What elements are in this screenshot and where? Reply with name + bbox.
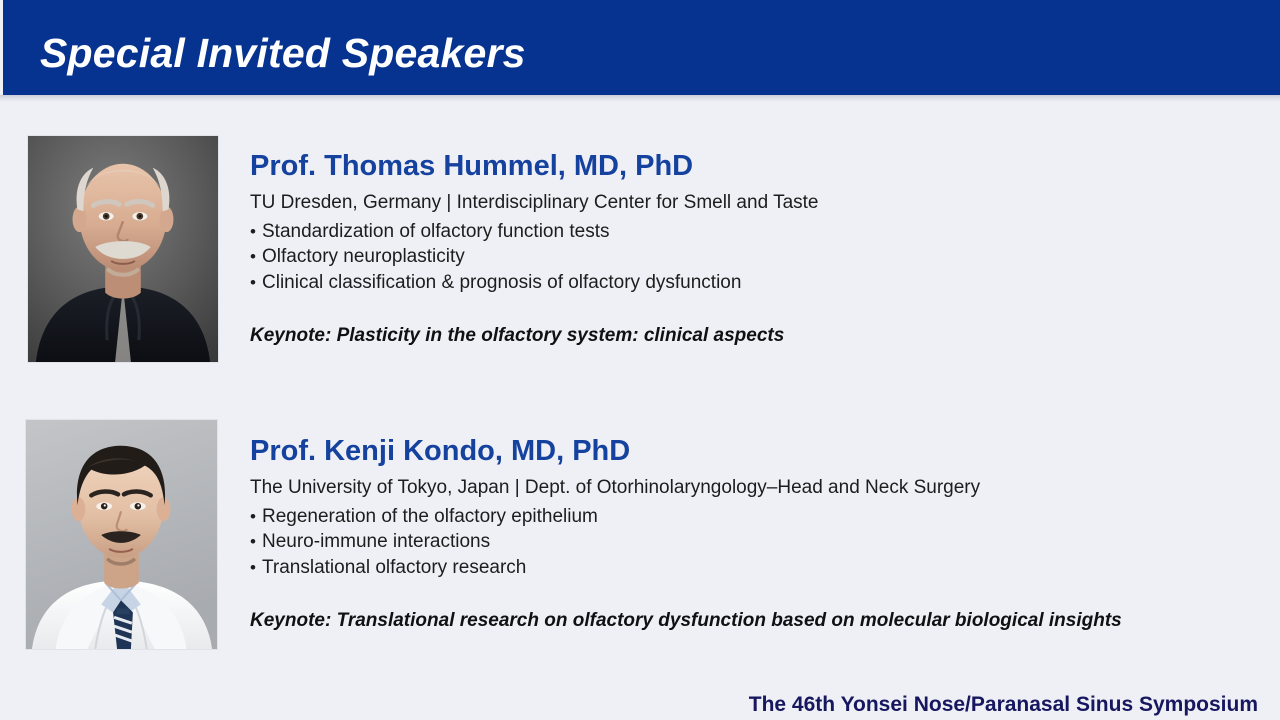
list-item: Regeneration of the olfactory epithelium bbox=[250, 504, 1122, 530]
portrait-kenji-kondo-illustration bbox=[26, 420, 217, 649]
speaker-affiliation-1: TU Dresden, Germany | Interdisciplinary … bbox=[250, 181, 818, 214]
page-title: Special Invited Speakers bbox=[40, 30, 526, 77]
speaker-info-2: Prof. Kenji Kondo, MD, PhD The Universit… bbox=[250, 419, 1122, 632]
slide-canvas: Special Invited Speakers bbox=[0, 0, 1280, 720]
speaker-affiliation-2: The University of Tokyo, Japan | Dept. o… bbox=[250, 466, 1122, 499]
list-item: Translational olfactory research bbox=[250, 555, 1122, 581]
footer-symposium-title: The 46th Yonsei Nose/Paranasal Sinus Sym… bbox=[749, 693, 1258, 717]
speaker-keynote-2: Keynote: Translational research on olfac… bbox=[250, 581, 1122, 632]
speaker-photo-1 bbox=[27, 135, 219, 363]
speaker-topics-2: Regeneration of the olfactory epithelium… bbox=[250, 499, 1122, 581]
list-item: Olfactory neuroplasticity bbox=[250, 244, 818, 270]
portrait-thomas-hummel-illustration bbox=[28, 136, 218, 362]
speaker-name-1: Prof. Thomas Hummel, MD, PhD bbox=[250, 135, 818, 181]
speaker-topics-1: Standardization of olfactory function te… bbox=[250, 214, 818, 296]
speaker-keynote-1: Keynote: Plasticity in the olfactory sys… bbox=[250, 296, 818, 347]
list-item: Standardization of olfactory function te… bbox=[250, 219, 818, 245]
header-shadow-divider bbox=[0, 95, 1280, 102]
speaker-info-1: Prof. Thomas Hummel, MD, PhD TU Dresden,… bbox=[250, 135, 818, 347]
speaker-name-2: Prof. Kenji Kondo, MD, PhD bbox=[250, 419, 1122, 466]
list-item: Neuro-immune interactions bbox=[250, 529, 1122, 555]
list-item: Clinical classification & prognosis of o… bbox=[250, 270, 818, 296]
speaker-photo-2 bbox=[25, 419, 218, 650]
